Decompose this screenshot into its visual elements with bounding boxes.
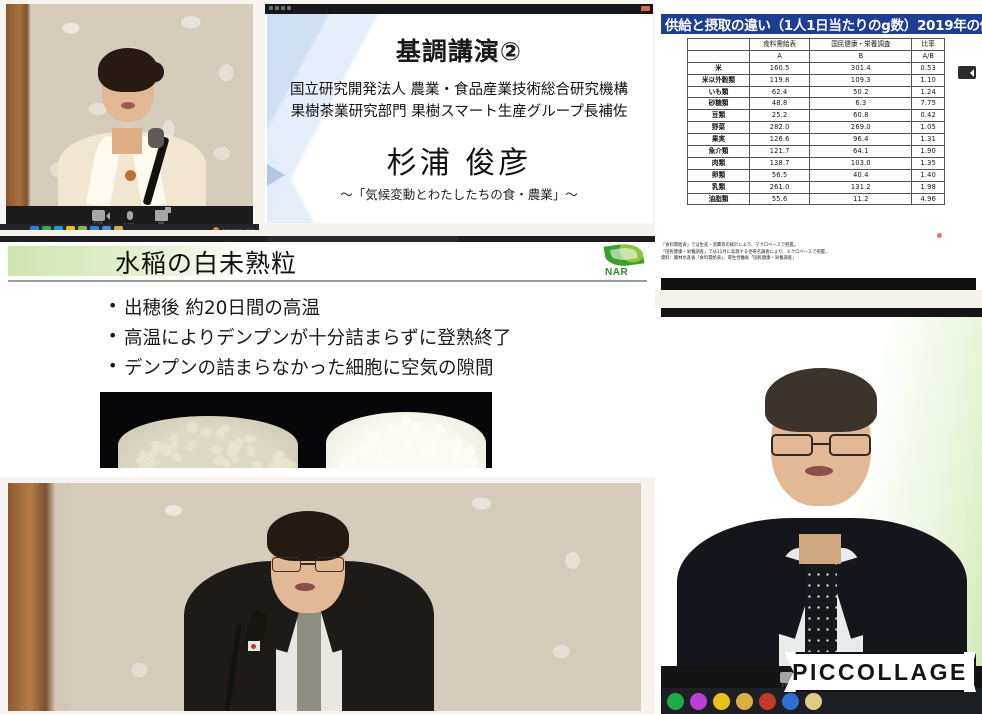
taskbar-app-icon[interactable] bbox=[114, 226, 123, 231]
close-icon[interactable] bbox=[641, 6, 650, 11]
naro-logo: NAR bbox=[603, 244, 645, 278]
rice-grain bbox=[433, 422, 447, 436]
eyeglasses-icon bbox=[272, 557, 344, 572]
table-cell: 109.3 bbox=[810, 74, 912, 86]
taskbar-app-icon[interactable] bbox=[102, 226, 111, 231]
list-item: 高温によりデンプンが十分詰まらずに登熟終了 bbox=[108, 324, 628, 354]
table-cell: 豆類 bbox=[688, 110, 750, 122]
table-cell: 1.98 bbox=[912, 181, 945, 193]
table-cell: 269.0 bbox=[810, 122, 912, 134]
table-cell: 1.24 bbox=[912, 86, 945, 98]
key-ab: A/B bbox=[912, 50, 945, 62]
table-row: 果実126.696.41.31 bbox=[688, 134, 945, 146]
lapel-badge bbox=[125, 170, 136, 181]
table-cell: 55.6 bbox=[750, 193, 810, 205]
table-row: いも類62.450.21.24 bbox=[688, 86, 945, 98]
translucent-grain-pile bbox=[118, 416, 298, 468]
table-slide-title: 供給と摂取の違い（1人1日当たりのg数）2019年の値 bbox=[661, 14, 982, 34]
table-header-row: 食料需給表 国民健康・栄養調査 比率 bbox=[688, 39, 945, 51]
slide-title-rule bbox=[8, 280, 647, 282]
lens-right bbox=[829, 434, 871, 456]
table-container: 食料需給表 国民健康・栄養調査 比率 A B A/B 米160.5301.40.… bbox=[687, 38, 945, 205]
speaker-name: 杉浦 俊彦 bbox=[267, 138, 651, 182]
lecture-subtitle: ～「気候変動とわたしたちの食・農業」～ bbox=[267, 184, 651, 203]
table-subheader-row: A B A/B bbox=[688, 50, 945, 62]
table-cell: 6.3 bbox=[810, 98, 912, 110]
taskbar-app-icon[interactable] bbox=[54, 226, 63, 231]
rice-grain bbox=[162, 445, 171, 458]
table-cell: 282.0 bbox=[750, 122, 810, 134]
table-footnote: 「食料需給表」では生産・消費等の統計により、マクロベースで把握。 「国民健康・栄… bbox=[661, 243, 829, 263]
taskbar-app-icon[interactable] bbox=[713, 693, 730, 710]
rice-grain bbox=[401, 436, 411, 449]
slide-bullet-list: 出穂後 約20日間の高温 高温によりデンプンが十分詰まらずに登熟終了 デンプンの… bbox=[108, 294, 628, 384]
microphone-flag bbox=[248, 641, 260, 651]
table-cell: 1.31 bbox=[912, 134, 945, 146]
piccollage-watermark: PICCOLLAGE bbox=[784, 652, 976, 692]
table-cell: 0.53 bbox=[912, 62, 945, 74]
table-row: 砂糖類48.86.37.75 bbox=[688, 98, 945, 110]
table-cell: 96.4 bbox=[810, 134, 912, 146]
highlight-marker bbox=[937, 233, 942, 238]
presentation-window: 基調講演② 国立研究開発法人 農業・食品産業技術総合研究機構 果樹茶業研究部門 … bbox=[265, 4, 653, 223]
table-cell: 砂糖類 bbox=[688, 98, 750, 110]
webcam-speaker-panel: ビデオ ミュート 共有 PICCOLLAGE bbox=[655, 308, 982, 714]
table-row: 乳類261.0131.21.98 bbox=[688, 181, 945, 193]
table-cell: 48.8 bbox=[750, 98, 810, 110]
keynote-title-panel: 基調講演② 国立研究開発法人 農業・食品産業技術総合研究機構 果樹茶業研究部門 … bbox=[261, 0, 657, 227]
table-cell: 1.10 bbox=[912, 74, 945, 86]
table-cell: 60.8 bbox=[810, 110, 912, 122]
taskbar-app-icon[interactable] bbox=[78, 226, 87, 231]
table-row: 魚介類121.764.11.90 bbox=[688, 146, 945, 158]
table-cell: 乳類 bbox=[688, 181, 750, 193]
taskbar-app-icon[interactable] bbox=[759, 693, 776, 710]
table-cell: 56.5 bbox=[750, 169, 810, 181]
lens-left bbox=[771, 434, 813, 456]
table-cell: 121.7 bbox=[750, 146, 810, 158]
table-row: 野菜282.0269.01.05 bbox=[688, 122, 945, 134]
table-cell: 119.8 bbox=[750, 74, 810, 86]
table-cell: 油脂類 bbox=[688, 193, 750, 205]
rice-grain bbox=[250, 459, 264, 468]
table-cell: 25.2 bbox=[750, 110, 810, 122]
screen-share-icon[interactable]: 共有 bbox=[155, 210, 168, 221]
table-cell: 126.6 bbox=[750, 134, 810, 146]
collage-canvas: ビデオ ミュート 共有 2021/11/05 bbox=[0, 0, 982, 714]
rice-grain bbox=[211, 446, 223, 454]
taskbar-app-icon[interactable] bbox=[782, 693, 799, 710]
rice-grain bbox=[401, 415, 410, 428]
speaker-hair bbox=[267, 511, 349, 561]
rice-grain bbox=[189, 421, 198, 434]
table-cell: 261.0 bbox=[750, 181, 810, 193]
table-cell: 米 bbox=[688, 62, 750, 74]
table-body: 米160.5301.40.53米以外穀類119.8109.31.10いも類62.… bbox=[688, 62, 945, 205]
mouth bbox=[121, 102, 135, 109]
window-title-bar bbox=[265, 4, 653, 14]
table-cell: 卵類 bbox=[688, 169, 750, 181]
glasses-bridge bbox=[813, 443, 829, 445]
leaf-icon bbox=[604, 241, 645, 268]
speaker-affiliation: 国立研究開発法人 農業・食品産業技術総合研究機構 果樹茶業研究部門 果樹スマート… bbox=[267, 80, 651, 124]
table-cell: 138.7 bbox=[750, 157, 810, 169]
table-cell: 4.96 bbox=[912, 193, 945, 205]
table-cell: 40.4 bbox=[810, 169, 912, 181]
lens-left bbox=[272, 557, 301, 572]
chalky-grain-pile bbox=[326, 412, 486, 468]
table-cell: 62.4 bbox=[750, 86, 810, 98]
col-nutrition-survey: 国民健康・栄養調査 bbox=[810, 39, 912, 51]
eyeglasses-icon bbox=[771, 434, 871, 456]
table-cell: 50.2 bbox=[810, 86, 912, 98]
slide-title: 水稲の白未熟粒 bbox=[115, 244, 297, 280]
rice-grain bbox=[199, 428, 213, 439]
rice-grain bbox=[245, 444, 257, 458]
key-blank bbox=[688, 50, 750, 62]
col-ratio: 比率 bbox=[912, 39, 945, 51]
taskbar-app-icon[interactable] bbox=[690, 693, 707, 710]
taskbar-app-icon[interactable] bbox=[30, 226, 39, 231]
affiliation-line-2: 果樹茶業研究部門 果樹スマート生産グループ長補佐 bbox=[267, 102, 651, 124]
table-cell: 11.2 bbox=[810, 193, 912, 205]
podium-speaker-panel bbox=[0, 477, 649, 714]
table-cell: 1.40 bbox=[912, 169, 945, 181]
taskbar-app-icon[interactable] bbox=[90, 226, 99, 231]
windows-taskbar[interactable]: 2021/11/05 13:21 bbox=[0, 224, 259, 230]
opening-speaker-video[interactable] bbox=[6, 4, 253, 206]
opening-speaker-panel: ビデオ ミュート 共有 2021/11/05 bbox=[0, 0, 259, 230]
taskbar-app-icon[interactable] bbox=[66, 226, 75, 231]
lens-right bbox=[315, 557, 344, 572]
affiliation-line-1: 国立研究開発法人 農業・食品産業技術総合研究機構 bbox=[267, 80, 651, 102]
taskbar-app-icon[interactable] bbox=[667, 693, 684, 710]
speaker-hair bbox=[765, 368, 877, 432]
rice-grain bbox=[386, 423, 395, 436]
video-control-bar: ビデオ ミュート 共有 bbox=[6, 206, 253, 224]
table-cell: 1.35 bbox=[912, 157, 945, 169]
table-cell: 7.75 bbox=[912, 98, 945, 110]
rice-grain-photo bbox=[100, 392, 492, 468]
table-row: 米以外穀類119.8109.31.10 bbox=[688, 74, 945, 86]
table-row: 豆類25.260.80.42 bbox=[688, 110, 945, 122]
podium-speaker-video[interactable] bbox=[8, 483, 641, 711]
table-row: 肉類138.7103.01.35 bbox=[688, 157, 945, 169]
supply-intake-table: 食料需給表 国民健康・栄養調査 比率 A B A/B 米160.5301.40.… bbox=[687, 38, 945, 205]
table-cell: 米以外穀類 bbox=[688, 74, 750, 86]
microphone-icon[interactable]: ミュート bbox=[127, 211, 133, 220]
table-cell: いも類 bbox=[688, 86, 750, 98]
col-blank bbox=[688, 39, 750, 51]
webcam-top-bar bbox=[661, 308, 982, 317]
table-cell: 160.5 bbox=[750, 62, 810, 74]
supply-intake-table-panel: 供給と摂取の違い（1人1日当たりのg数）2019年の値 食料需給表 国民健康・栄… bbox=[655, 0, 982, 290]
table-cell: 301.4 bbox=[810, 62, 912, 74]
mouth bbox=[805, 466, 833, 476]
camera-icon[interactable]: ビデオ bbox=[92, 210, 105, 221]
microphone-head bbox=[148, 128, 164, 148]
rice-grain bbox=[244, 435, 256, 443]
secondary-window-strip bbox=[268, 236, 458, 242]
speaker-neck bbox=[799, 534, 841, 564]
system-tray[interactable]: 2021/11/05 13:21 bbox=[213, 227, 255, 230]
table-cell: 野菜 bbox=[688, 122, 750, 134]
slide-heading: 基調講演② bbox=[267, 32, 651, 68]
table-row: 米160.5301.40.53 bbox=[688, 62, 945, 74]
title-slide: 基調講演② 国立研究開発法人 農業・食品産業技術総合研究機構 果樹茶業研究部門 … bbox=[267, 14, 651, 223]
table-cell: 64.1 bbox=[810, 146, 912, 158]
taskbar-app-icon[interactable] bbox=[805, 693, 822, 710]
table-cell: 1.05 bbox=[912, 122, 945, 134]
table-cell: 0.42 bbox=[912, 110, 945, 122]
rice-grain bbox=[234, 437, 243, 450]
rice-grain bbox=[170, 450, 184, 464]
table-cell: 1.90 bbox=[912, 146, 945, 158]
window-thumbnail-icon[interactable] bbox=[958, 66, 976, 79]
rice-grain bbox=[184, 439, 198, 453]
mouth bbox=[295, 583, 315, 591]
table-cell: 魚介類 bbox=[688, 146, 750, 158]
key-b: B bbox=[810, 50, 912, 62]
key-a: A bbox=[750, 50, 810, 62]
taskbar-icon-group bbox=[667, 693, 822, 710]
speaker-tie bbox=[297, 603, 321, 711]
table-cell: 果実 bbox=[688, 134, 750, 146]
piccollage-label: PICCOLLAGE bbox=[792, 659, 968, 686]
rice-grain bbox=[427, 432, 441, 446]
speaker-neck bbox=[112, 128, 142, 154]
speaker-hair-bun bbox=[146, 62, 164, 82]
tray-status-icon[interactable] bbox=[213, 227, 219, 230]
rice-grain bbox=[373, 442, 386, 451]
list-item: デンプンの詰まらなかった細胞に空気の隙間 bbox=[108, 354, 628, 384]
presentation-bottom-bar bbox=[661, 278, 976, 290]
col-food-balance-sheet: 食料需給表 bbox=[750, 39, 810, 51]
taskbar-app-icon[interactable] bbox=[42, 226, 51, 231]
table-cell: 131.2 bbox=[810, 181, 912, 193]
table-row: 油脂類55.611.24.96 bbox=[688, 193, 945, 205]
taskbar-app-icon[interactable] bbox=[736, 693, 753, 710]
tray-clock: 13:21 bbox=[245, 228, 255, 231]
table-cell: 103.0 bbox=[810, 157, 912, 169]
window-menu-dots bbox=[265, 4, 653, 10]
list-item: 出穂後 約20日間の高温 bbox=[108, 294, 628, 324]
glasses-bridge bbox=[301, 563, 315, 565]
rice-slide-panel: 水稲の白未熟粒 NAR 出穂後 約20日間の高温 高温によりデンプンが十分詰まら… bbox=[0, 236, 655, 477]
table-row: 卵類56.540.41.40 bbox=[688, 169, 945, 181]
tray-date: 2021/11/05 bbox=[222, 228, 242, 231]
naro-logo-text: NAR bbox=[605, 267, 628, 278]
taskbar-icon-group bbox=[30, 226, 123, 231]
table-cell: 肉類 bbox=[688, 157, 750, 169]
